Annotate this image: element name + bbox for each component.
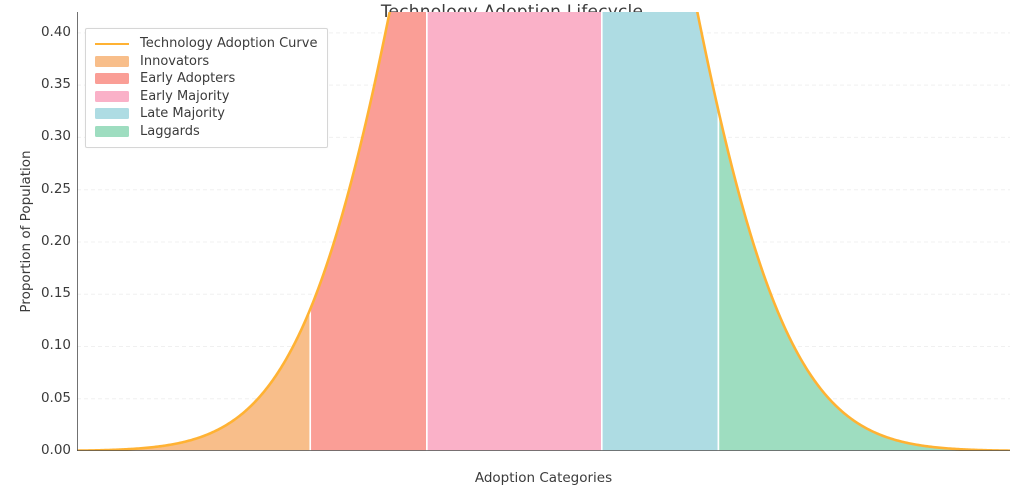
- legend-item-label: Laggards: [140, 124, 200, 139]
- region-innovators: [77, 309, 310, 451]
- legend-swatch-icon: [95, 73, 129, 84]
- y-axis-label: Proportion of Population: [18, 12, 40, 451]
- x-axis-label: Adoption Categories: [77, 470, 1010, 486]
- legend-swatch-icon: [95, 108, 129, 119]
- legend-line-icon: [95, 43, 129, 45]
- legend-item-label: Early Majority: [140, 89, 229, 104]
- legend-item-early-majority[interactable]: Early Majority: [95, 88, 317, 106]
- chart-legend: Technology Adoption CurveInnovatorsEarly…: [85, 28, 328, 148]
- legend-item-label: Late Majority: [140, 106, 225, 121]
- legend-swatch-icon: [95, 91, 129, 102]
- legend-item-label: Innovators: [140, 54, 209, 69]
- technology-adoption-chart: Technology Adoption Lifecycle 0.000.050.…: [0, 0, 1024, 498]
- legend-swatch-icon: [95, 56, 129, 67]
- region-laggards: [718, 111, 1010, 451]
- legend-item-technology-adoption-curve[interactable]: Technology Adoption Curve: [95, 35, 317, 53]
- region-late-majority: [602, 12, 719, 451]
- legend-swatch-icon: [95, 126, 129, 137]
- legend-item-label: Early Adopters: [140, 71, 235, 86]
- legend-item-label: Technology Adoption Curve: [140, 36, 317, 51]
- legend-item-laggards[interactable]: Laggards: [95, 123, 317, 141]
- legend-item-innovators[interactable]: Innovators: [95, 53, 317, 71]
- legend-item-late-majority[interactable]: Late Majority: [95, 105, 317, 123]
- legend-item-early-adopters[interactable]: Early Adopters: [95, 70, 317, 88]
- region-early-majority: [427, 12, 602, 451]
